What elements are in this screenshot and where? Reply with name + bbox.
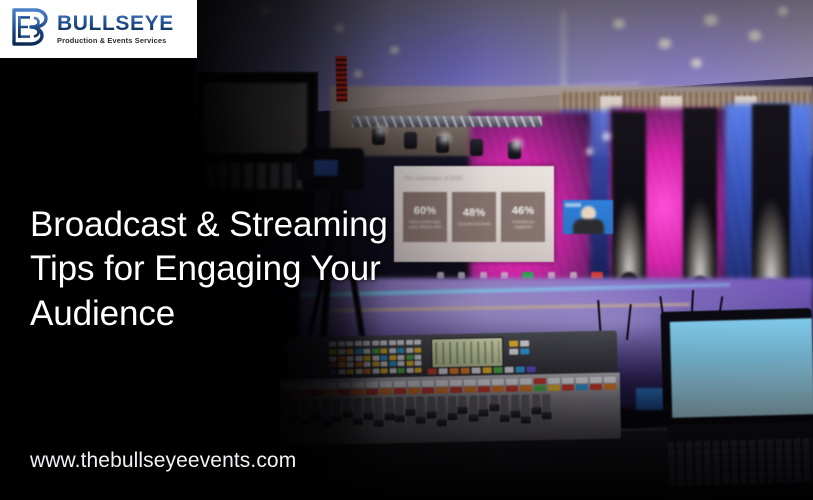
brand-logo-plate[interactable]: BULLSEYE Production & Events Services	[0, 0, 197, 58]
page-title: Broadcast & Streaming Tips for Engaging …	[30, 203, 460, 336]
eb-monogram-icon	[9, 6, 51, 53]
brand-tagline: Production & Events Services	[57, 37, 174, 44]
brand-logo-text: BULLSEYE Production & Events Services	[57, 13, 174, 44]
blog-banner: The challenges of 2020 60% Need to short…	[0, 0, 813, 500]
brand-wordmark: BULLSEYE	[57, 13, 174, 34]
website-url[interactable]: www.thebullseyeevents.com	[30, 449, 296, 473]
